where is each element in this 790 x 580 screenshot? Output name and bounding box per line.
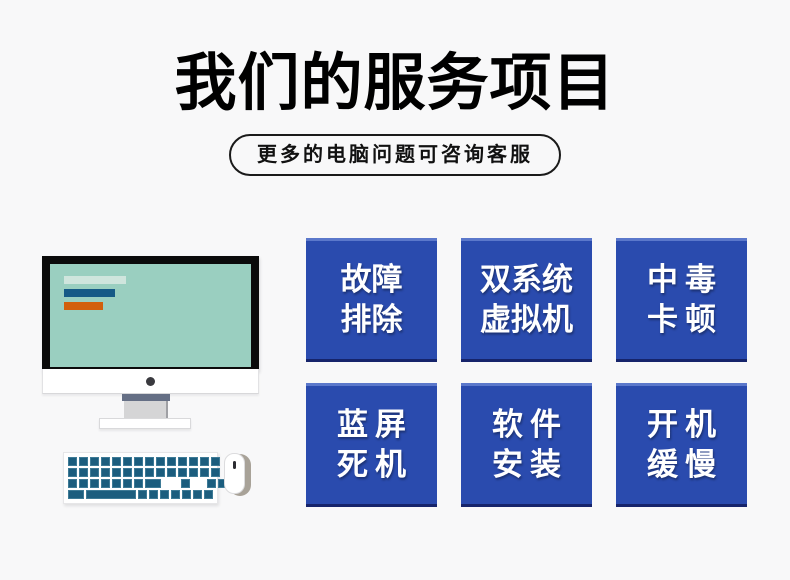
mouse [224,453,251,496]
service-tile-line-1: 软件 [485,405,568,445]
service-tile-fault-troubleshooting[interactable]: 故障 排除 [306,238,437,362]
keyboard [63,452,218,504]
monitor-stand-top [122,394,170,401]
monitor [42,256,259,371]
service-tile-line-2: 缓慢 [640,445,723,485]
service-tile-line-1: 开机 [640,405,723,445]
monitor-stand-neck [124,401,168,418]
desktop-computer-illustration [28,245,290,520]
monitor-stand-base [99,418,191,429]
screen [50,264,251,367]
page-title: 我们的服务项目 [0,0,790,118]
service-tile-slow-boot[interactable]: 开机 缓慢 [616,383,747,507]
subtitle-pill: 更多的电脑问题可咨询客服 [229,134,561,176]
service-tile-line-1: 双系统 [480,260,573,300]
keyboard-row [68,479,213,488]
screen-bar-light [64,276,126,284]
service-tile-grid: 故障 排除 双系统 虚拟机 中毒 卡顿 蓝屏 死机 软件 安装 开机 缓慢 [306,238,747,507]
service-tile-virus-lag[interactable]: 中毒 卡顿 [616,238,747,362]
service-items-poster: 我们的服务项目 更多的电脑问题可咨询客服 [0,0,790,580]
service-tile-line-2: 排除 [341,300,403,340]
service-tile-line-2: 卡顿 [640,300,723,340]
service-tile-line-2: 安装 [485,445,568,485]
monitor-logo-dot [146,377,155,386]
header: 我们的服务项目 更多的电脑问题可咨询客服 [0,0,790,176]
screen-bar-orange [64,302,103,310]
service-tile-line-1: 中毒 [640,260,723,300]
keyboard-row [68,468,213,477]
service-tile-line-1: 故障 [341,260,403,300]
screen-bar-blue [64,289,115,297]
keyboard-row [68,490,213,499]
monitor-chin [42,369,259,394]
service-tile-line-1: 蓝屏 [330,405,413,445]
service-tile-line-2: 死机 [330,445,413,485]
service-tile-dual-boot-virtual-machine[interactable]: 双系统 虚拟机 [461,238,592,362]
service-tile-software-installation[interactable]: 软件 安装 [461,383,592,507]
mouse-scroll-wheel [233,461,236,469]
keyboard-row [68,457,213,466]
subtitle-container: 更多的电脑问题可咨询客服 [0,134,790,176]
service-tile-blue-screen-crash[interactable]: 蓝屏 死机 [306,383,437,507]
service-tile-line-2: 虚拟机 [480,300,573,340]
mouse-body [224,453,245,494]
